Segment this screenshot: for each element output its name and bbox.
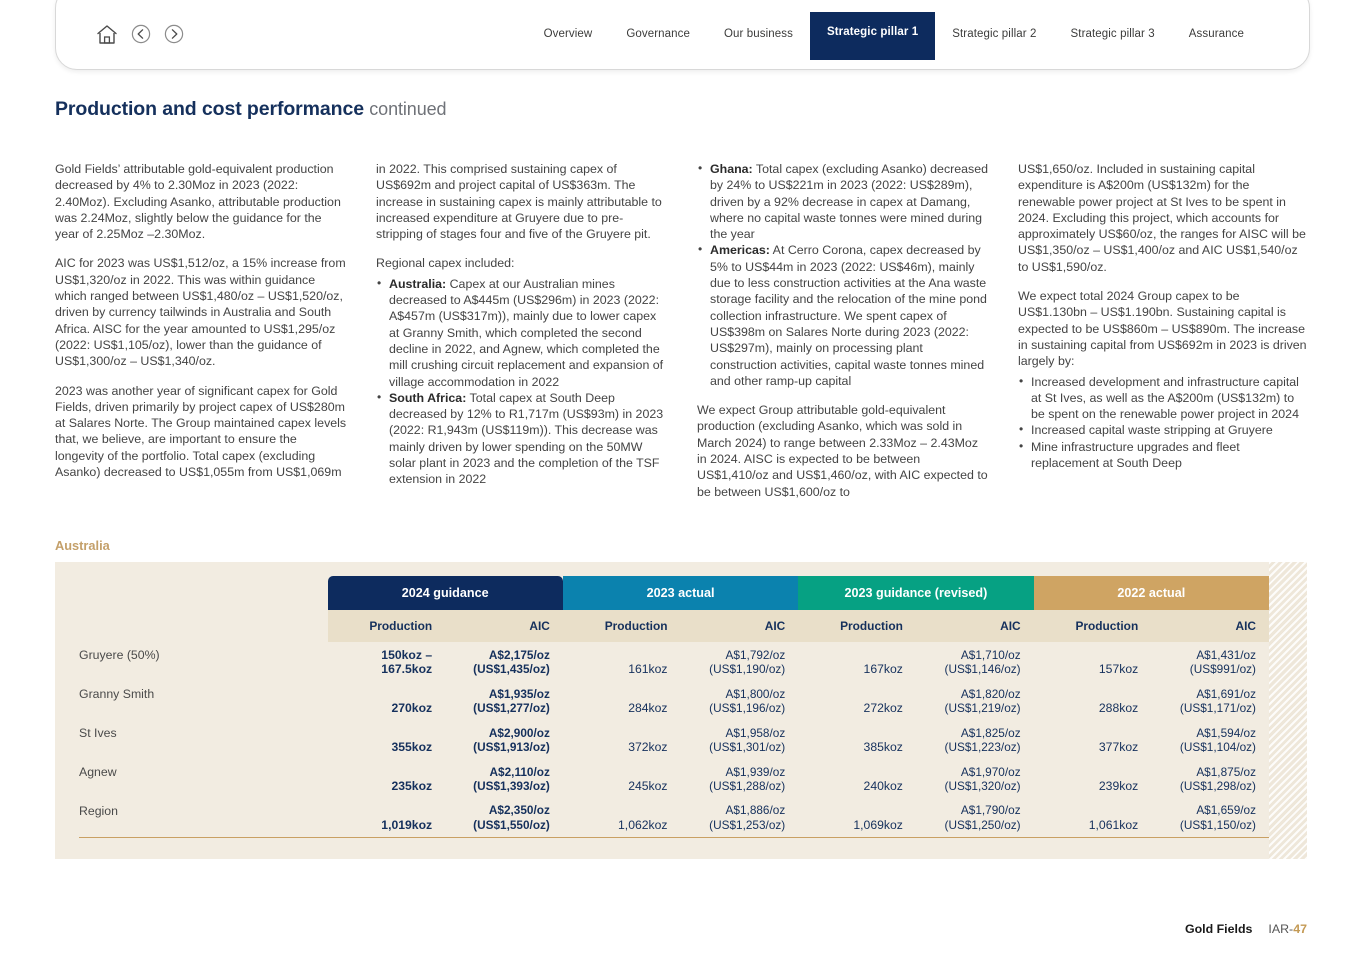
cell-line-2: (US$1,253/oz) xyxy=(709,818,785,832)
row-label: St Ives xyxy=(79,720,328,759)
table-row: Granny Smith 270koz A$1,935/oz(US$1,277/… xyxy=(79,681,1269,720)
paragraph: Regional capex included: xyxy=(376,255,668,271)
nav-link-strategic-pillar-1[interactable]: Strategic pillar 1 xyxy=(810,12,935,56)
cell-2023guidance-production: 167koz xyxy=(798,642,916,681)
list-item-term: Ghana: xyxy=(710,162,753,176)
cell-2024-production: 1,019koz xyxy=(328,798,446,837)
cell-line-1: A$1,935/oz xyxy=(445,687,550,702)
page-title-continued: continued xyxy=(369,99,446,119)
cell-line-2: (US$1,104/oz) xyxy=(1180,740,1256,754)
subheader-2023actual-production: Production xyxy=(563,610,681,642)
row-label: Granny Smith xyxy=(79,681,328,720)
list-item-text: Capex at our Australian mines decreased … xyxy=(389,277,663,389)
cell-2024-aic: A$1,935/oz(US$1,277/oz) xyxy=(445,681,563,720)
group-header-2023-actual: 2023 actual xyxy=(563,576,798,610)
region-heading: Australia xyxy=(55,538,110,553)
subheader-2024-aic: AIC xyxy=(445,610,563,642)
cell-2023actual-production: 245koz xyxy=(563,759,681,798)
list-item: Ghana: Total capex (excluding Asanko) de… xyxy=(697,161,989,242)
cell-line-1: A$1,792/oz xyxy=(681,648,786,663)
cell-line-2: (US$1,250/oz) xyxy=(945,818,1021,832)
cell-line-1: A$2,110/oz xyxy=(445,765,550,780)
table-row: Gruyere (50%) 150koz –167.5koz A$2,175/o… xyxy=(79,642,1269,681)
cell-line-2: (US$1,219/oz) xyxy=(945,701,1021,715)
list-item-term: Americas: xyxy=(710,243,770,257)
cell-line-2: (US$1,223/oz) xyxy=(945,740,1021,754)
cell-2024-production: 355koz xyxy=(328,720,446,759)
cell-2024-aic: A$2,175/oz(US$1,435/oz) xyxy=(445,642,563,681)
page-title: Production and cost performance continue… xyxy=(55,98,446,121)
cell-2024-production: 270koz xyxy=(328,681,446,720)
cell-line-1: A$1,875/oz xyxy=(1151,765,1256,780)
cell-line-1: A$2,350/oz xyxy=(445,803,550,818)
column-2: in 2022. This comprised sustaining capex… xyxy=(376,161,668,513)
cell-line-2: (US$991/oz) xyxy=(1190,662,1256,676)
table-row: St Ives 355koz A$2,900/oz(US$1,913/oz) 3… xyxy=(79,720,1269,759)
table-group-header-row: 2024 guidance 2023 actual 2023 guidance … xyxy=(79,576,1269,610)
subheader-2022actual-production: Production xyxy=(1034,610,1152,642)
cell-line-1: A$1,939/oz xyxy=(681,765,786,780)
row-label: Agnew xyxy=(79,759,328,798)
list-item-term: South Africa: xyxy=(389,391,466,405)
regional-capex-list-continued: Ghana: Total capex (excluding Asanko) de… xyxy=(697,161,989,389)
column-1: Gold Fields’ attributable gold-equivalen… xyxy=(55,161,347,513)
cell-line-2: (US$1,171/oz) xyxy=(1180,701,1256,715)
nav-icon-group xyxy=(96,24,184,45)
paragraph: 2023 was another year of significant cap… xyxy=(55,383,347,481)
regional-capex-list: Australia: Capex at our Australian mines… xyxy=(376,276,668,488)
subheader-2023guidance-aic: AIC xyxy=(916,610,1034,642)
nav-link-assurance[interactable]: Assurance xyxy=(1172,12,1261,56)
cell-line-1: A$1,800/oz xyxy=(681,687,786,702)
cell-2023actual-aic: A$1,886/oz(US$1,253/oz) xyxy=(681,798,799,837)
next-page-icon[interactable] xyxy=(164,24,184,44)
subheader-2024-production: Production xyxy=(328,610,446,642)
table-row: Agnew 235koz A$2,110/oz(US$1,393/oz) 245… xyxy=(79,759,1269,798)
cell-2023actual-aic: A$1,958/oz(US$1,301/oz) xyxy=(681,720,799,759)
nav-link-our-business[interactable]: Our business xyxy=(707,12,810,56)
cell-line-1: A$1,970/oz xyxy=(916,765,1021,780)
cell-2022actual-production: 288koz xyxy=(1034,681,1152,720)
cell-line-2: (US$1,190/oz) xyxy=(709,662,785,676)
cell-2023actual-production: 284koz xyxy=(563,681,681,720)
footer-doc-code: IAR- xyxy=(1268,922,1293,936)
cell-line-1: A$1,790/oz xyxy=(916,803,1021,818)
cell-2023actual-aic: A$1,792/oz(US$1,190/oz) xyxy=(681,642,799,681)
table-subheader-row: Production AIC Production AIC Production… xyxy=(79,610,1269,642)
footer-page-number: 47 xyxy=(1293,922,1307,936)
cell-line-2: (US$1,435/oz) xyxy=(473,662,550,676)
cell-2023guidance-aic: A$1,710/oz(US$1,146/oz) xyxy=(916,642,1034,681)
cell-2022actual-production: 239koz xyxy=(1034,759,1152,798)
nav-link-overview[interactable]: Overview xyxy=(527,12,610,56)
column-3: Ghana: Total capex (excluding Asanko) de… xyxy=(697,161,989,513)
cell-line-1: A$1,594/oz xyxy=(1151,726,1256,741)
cell-2023guidance-aic: A$1,820/oz(US$1,219/oz) xyxy=(916,681,1034,720)
article-columns: Gold Fields’ attributable gold-equivalen… xyxy=(55,161,1310,513)
cell-2022actual-aic: A$1,594/oz(US$1,104/oz) xyxy=(1151,720,1269,759)
cell-2023actual-aic: A$1,939/oz(US$1,288/oz) xyxy=(681,759,799,798)
cell-2024-aic: A$2,350/oz(US$1,550/oz) xyxy=(445,798,563,837)
list-item-text: Total capex at South Deep decreased by 1… xyxy=(389,391,663,486)
row-label: Region xyxy=(79,798,328,837)
cell-2024-production: 150koz –167.5koz xyxy=(328,642,446,681)
cell-line-2: (US$1,277/oz) xyxy=(473,701,550,715)
cell-2024-aic: A$2,900/oz(US$1,913/oz) xyxy=(445,720,563,759)
cell-line-2: 167.5koz xyxy=(381,662,432,676)
cell-line-1: A$1,659/oz xyxy=(1151,803,1256,818)
paragraph: in 2022. This comprised sustaining capex… xyxy=(376,161,668,242)
cell-line-1: A$2,175/oz xyxy=(445,648,550,663)
cell-line-2: 235koz xyxy=(391,779,432,793)
cell-2022actual-aic: A$1,431/oz(US$991/oz) xyxy=(1151,642,1269,681)
group-header-2022-actual: 2022 actual xyxy=(1034,576,1269,610)
cell-line-2: (US$1,320/oz) xyxy=(945,779,1021,793)
footer-brand: Gold Fields xyxy=(1185,922,1252,936)
cell-2022actual-production: 157koz xyxy=(1034,642,1152,681)
paragraph: AIC for 2023 was US$1,512/oz, a 15% incr… xyxy=(55,255,347,369)
panel-hatch-decoration xyxy=(1269,562,1307,859)
cell-2023actual-production: 1,062koz xyxy=(563,798,681,837)
cell-2022actual-production: 1,061koz xyxy=(1034,798,1152,837)
list-item-term: Australia: xyxy=(389,277,446,291)
list-item: Increased capital waste stripping at Gru… xyxy=(1018,422,1310,438)
cell-2023guidance-aic: A$1,970/oz(US$1,320/oz) xyxy=(916,759,1034,798)
cell-2024-aic: A$2,110/oz(US$1,393/oz) xyxy=(445,759,563,798)
cell-line-2: (US$1,550/oz) xyxy=(473,818,550,832)
cell-line-2: 1,019koz xyxy=(381,818,432,832)
cell-line-2: (US$1,298/oz) xyxy=(1180,779,1256,793)
cell-line-2: (US$1,150/oz) xyxy=(1180,818,1256,832)
cell-2024-production: 235koz xyxy=(328,759,446,798)
list-item: Increased development and infrastructure… xyxy=(1018,374,1310,423)
nav-links: Overview Governance Our business Strateg… xyxy=(527,12,1261,56)
cell-line-2: (US$1,146/oz) xyxy=(945,662,1021,676)
table-corner-cell xyxy=(79,576,328,610)
cell-2023guidance-production: 1,069koz xyxy=(798,798,916,837)
cell-line-2: (US$1,288/oz) xyxy=(709,779,785,793)
paragraph: US$1,650/oz. Included in sustaining capi… xyxy=(1018,161,1310,275)
list-item-text: At Cerro Corona, capex decreased by 5% t… xyxy=(710,243,987,387)
cell-2022actual-production: 377koz xyxy=(1034,720,1152,759)
cell-2023guidance-production: 272koz xyxy=(798,681,916,720)
page-footer: Gold FieldsIAR-47 xyxy=(1185,922,1307,936)
nav-link-strategic-pillar-3[interactable]: Strategic pillar 3 xyxy=(1054,12,1172,56)
cell-2023actual-production: 161koz xyxy=(563,642,681,681)
paragraph: We expect Group attributable gold-equiva… xyxy=(697,402,989,500)
cell-line-1: A$1,691/oz xyxy=(1151,687,1256,702)
cell-2023guidance-aic: A$1,825/oz(US$1,223/oz) xyxy=(916,720,1034,759)
cell-2023guidance-production: 385koz xyxy=(798,720,916,759)
cell-line-1: A$1,886/oz xyxy=(681,803,786,818)
table-row: Region 1,019koz A$2,350/oz(US$1,550/oz) … xyxy=(79,798,1269,837)
group-header-2023-guidance-revised: 2023 guidance (revised) xyxy=(798,576,1033,610)
list-item: Americas: At Cerro Corona, capex decreas… xyxy=(697,242,989,389)
cell-2022actual-aic: A$1,659/oz(US$1,150/oz) xyxy=(1151,798,1269,837)
cell-line-1: A$1,825/oz xyxy=(916,726,1021,741)
cell-line-1: A$1,958/oz xyxy=(681,726,786,741)
cell-2022actual-aic: A$1,691/oz(US$1,171/oz) xyxy=(1151,681,1269,720)
nav-link-governance[interactable]: Governance xyxy=(609,12,707,56)
cell-2023guidance-aic: A$1,790/oz(US$1,250/oz) xyxy=(916,798,1034,837)
cell-line-2: 355koz xyxy=(391,740,432,754)
cell-2022actual-aic: A$1,875/oz(US$1,298/oz) xyxy=(1151,759,1269,798)
subheader-2023guidance-production: Production xyxy=(798,610,916,642)
subheader-blank xyxy=(79,610,328,642)
cell-line-2: 270koz xyxy=(391,701,432,715)
list-item: Mine infrastructure upgrades and fleet r… xyxy=(1018,439,1310,472)
cell-2023actual-aic: A$1,800/oz(US$1,196/oz) xyxy=(681,681,799,720)
cell-line-2: (US$1,196/oz) xyxy=(709,701,785,715)
nav-link-strategic-pillar-2[interactable]: Strategic pillar 2 xyxy=(935,12,1053,56)
page-title-main: Production and cost performance xyxy=(55,98,364,120)
group-header-2024-guidance: 2024 guidance xyxy=(328,576,563,610)
cell-line-1: A$1,820/oz xyxy=(916,687,1021,702)
sustaining-capital-drivers-list: Increased development and infrastructure… xyxy=(1018,374,1310,472)
previous-page-icon[interactable] xyxy=(131,24,151,44)
production-cost-table: 2024 guidance 2023 actual 2023 guidance … xyxy=(79,576,1269,838)
cell-2023actual-production: 372koz xyxy=(563,720,681,759)
cell-line-1: A$2,900/oz xyxy=(445,726,550,741)
top-navigation-bar: Overview Governance Our business Strateg… xyxy=(55,0,1310,70)
cell-line-2: (US$1,393/oz) xyxy=(473,779,550,793)
column-4: US$1,650/oz. Included in sustaining capi… xyxy=(1018,161,1310,513)
paragraph: Gold Fields’ attributable gold-equivalen… xyxy=(55,161,347,242)
list-item: Australia: Capex at our Australian mines… xyxy=(376,276,668,390)
subheader-2023actual-aic: AIC xyxy=(681,610,799,642)
table-body: Gruyere (50%) 150koz –167.5koz A$2,175/o… xyxy=(79,642,1269,837)
home-icon[interactable] xyxy=(96,24,118,45)
cell-line-1: A$1,431/oz xyxy=(1151,648,1256,663)
row-label: Gruyere (50%) xyxy=(79,642,328,681)
list-item-text: Total capex (excluding Asanko) decreased… xyxy=(710,162,988,241)
paragraph: We expect total 2024 Group capex to be U… xyxy=(1018,288,1310,369)
list-item: South Africa: Total capex at South Deep … xyxy=(376,390,668,488)
cell-line-2: (US$1,301/oz) xyxy=(709,740,785,754)
cell-line-1: 150koz – xyxy=(328,648,433,663)
subheader-2022actual-aic: AIC xyxy=(1151,610,1269,642)
cell-line-2: (US$1,913/oz) xyxy=(473,740,550,754)
cell-2023guidance-production: 240koz xyxy=(798,759,916,798)
cell-line-1: A$1,710/oz xyxy=(916,648,1021,663)
